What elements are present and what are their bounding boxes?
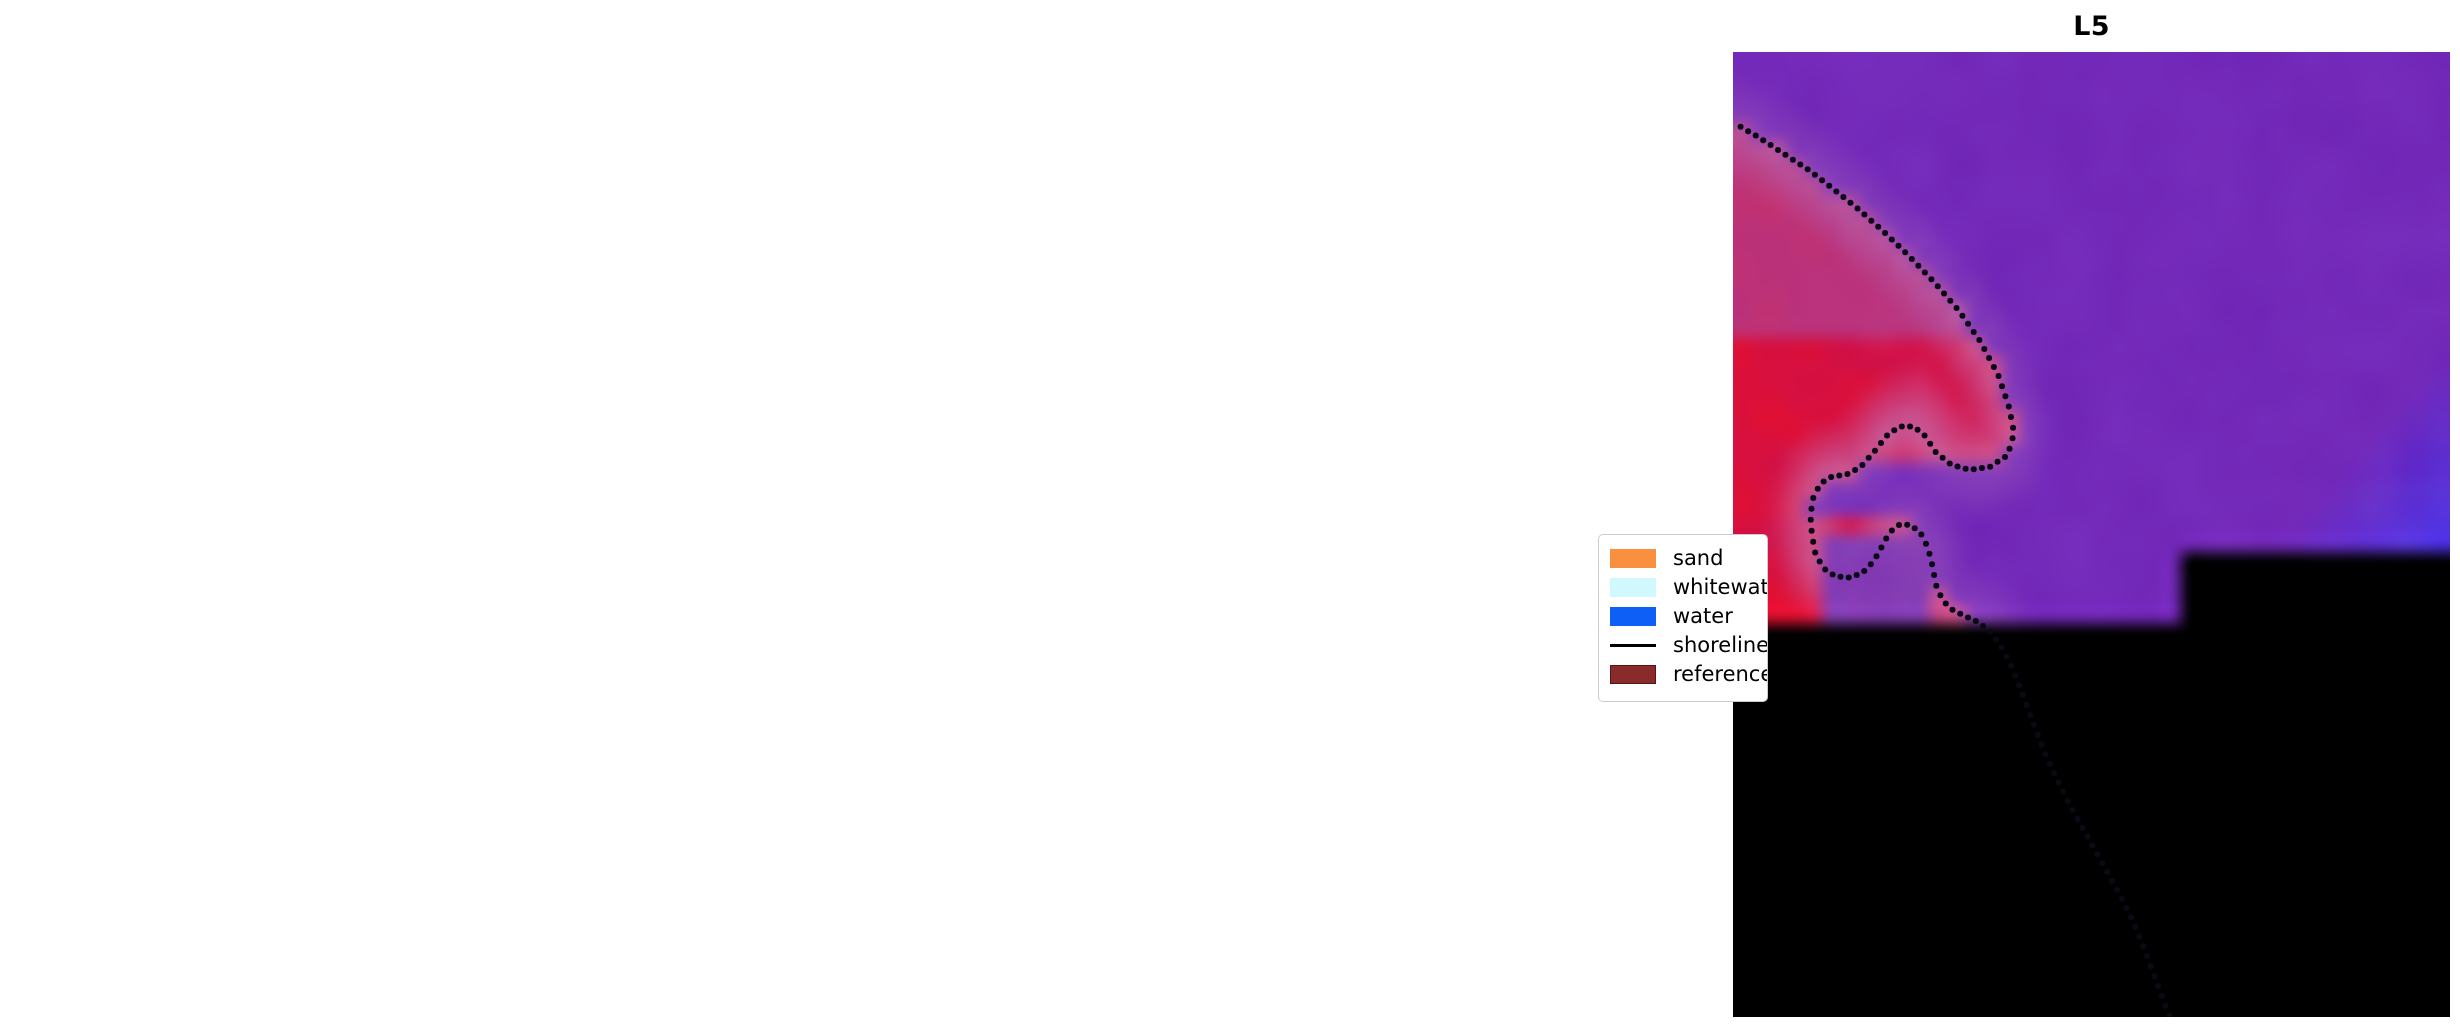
legend-swatch-water <box>1610 607 1656 626</box>
raster-classified <box>873 52 1590 1017</box>
panel-title-classified: 1995-08-09-09-09-49 <box>873 4 1590 48</box>
legend-swatch-whitewater <box>1610 578 1656 597</box>
axes-classified-image <box>873 52 1590 1017</box>
legend-item-whitewater: whitewater <box>1610 573 1757 602</box>
axes-l5-image <box>1733 52 2450 1017</box>
legend-swatch-shoreline <box>1610 644 1656 647</box>
panel-l5: L5 <box>0 0 2460 1031</box>
legend-box: sand whitewater water shoreline referenc… <box>1598 534 1768 702</box>
legend-item-reference: reference <box>1610 660 1757 689</box>
legend-label-reference: reference <box>1673 660 1768 689</box>
panel-title-sar: sar1559 <box>13 4 730 48</box>
panel-classified: 1995-08-09-09-09-49 <box>0 0 2460 1031</box>
legend-label-sand: sand <box>1673 544 1723 573</box>
legend-item-water: water <box>1610 602 1757 631</box>
axes-sar-image <box>13 52 730 1017</box>
raster-l5 <box>1733 52 2450 1017</box>
legend-label-water: water <box>1673 602 1733 631</box>
legend-swatch-reference <box>1610 665 1656 684</box>
legend-item-shoreline: shoreline <box>1610 631 1757 660</box>
legend-label-shoreline: shoreline <box>1673 631 1768 660</box>
panel-sar: sar1559 <box>0 0 2460 1031</box>
figure-canvas: sar1559 1995-08-09-09-09-49 L5 sand whit… <box>0 0 2460 1031</box>
legend-swatch-sand <box>1610 549 1656 568</box>
legend-item-sand: sand <box>1610 544 1757 573</box>
legend-label-whitewater: whitewater <box>1673 573 1768 602</box>
panel-title-l5: L5 <box>1733 4 2450 48</box>
raster-sar <box>13 52 730 1017</box>
